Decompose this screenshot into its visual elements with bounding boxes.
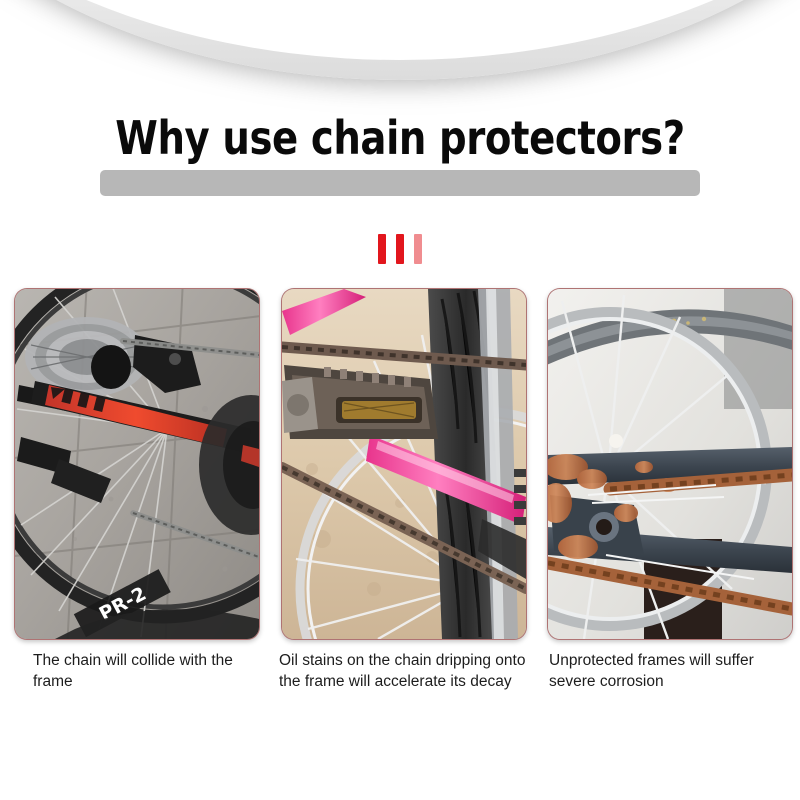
- page-title: Why use chain protectors?: [64, 110, 736, 166]
- bicycle-rear-wheel-cassette-image: PR-2: [15, 289, 259, 639]
- promo-banner: Why use chain protectors?: [0, 0, 800, 800]
- corroded-frame-rusty-chain-image: [548, 289, 792, 639]
- image-card-3: [547, 288, 793, 640]
- caption-2: Oil stains on the chain dripping onto th…: [279, 650, 534, 692]
- rusty-pedal-pink-frame-image: [282, 289, 526, 639]
- tick-mark-3: [414, 234, 422, 264]
- title-underline-bar: [100, 170, 700, 196]
- image-card-row: PR-2: [0, 288, 800, 640]
- caption-3: Unprotected frames will suffer severe co…: [549, 650, 789, 692]
- tick-mark-2: [396, 234, 404, 264]
- page-title-block: Why use chain protectors?: [0, 110, 800, 205]
- red-tick-separator: [0, 232, 800, 266]
- top-arc-mask: [0, 0, 800, 60]
- image-card-2: [281, 288, 527, 640]
- caption-1: The chain will collide with the frame: [33, 650, 248, 692]
- tick-mark-1: [378, 234, 386, 264]
- image-card-1: PR-2: [14, 288, 260, 640]
- caption-row: The chain will collide with the frame Oi…: [0, 650, 800, 750]
